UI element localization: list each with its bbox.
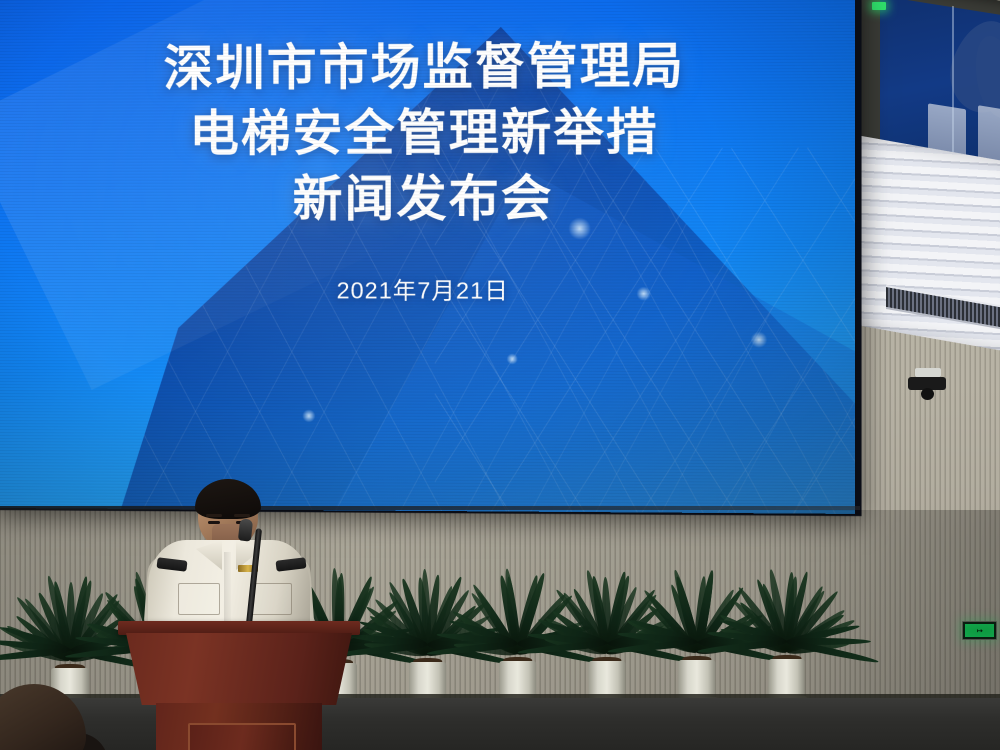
slide-title-line-3: 新闻发布会 xyxy=(293,167,554,233)
press-conference-photo: ↦ 深圳市市场监督管理局 电梯安全管理新举措 新闻发布会 2021年7月21日 xyxy=(0,0,1000,750)
potted-plant xyxy=(560,523,654,704)
green-indicator-light-icon xyxy=(872,2,886,10)
screen-bottom-ledge xyxy=(0,506,860,510)
speaker-brow-right xyxy=(234,514,250,517)
podium-front-panel xyxy=(188,723,296,750)
camera-mount xyxy=(915,368,941,377)
microphone-icon xyxy=(238,518,253,541)
podium-body xyxy=(126,633,352,705)
speaker-brow-left xyxy=(206,514,222,517)
room-floor xyxy=(0,698,1000,750)
potted-plant xyxy=(470,522,565,705)
slide-title-line-1: 深圳市市场监督管理局 xyxy=(164,34,686,103)
slide-text-block: 深圳市市场监督管理局 电梯安全管理新举措 新闻发布会 2021年7月21日 xyxy=(0,0,855,514)
camera-lens-icon xyxy=(921,388,934,400)
potted-plant xyxy=(740,523,833,702)
led-screen: 深圳市市场监督管理局 电梯安全管理新举措 新闻发布会 2021年7月21日 xyxy=(0,0,855,514)
podium-top-surface xyxy=(118,621,360,635)
potted-plant xyxy=(650,522,744,703)
speaker-shirt-placket xyxy=(224,552,231,628)
speaker-shirt-pocket-right xyxy=(250,583,292,615)
speaker-shirt-pocket-left xyxy=(178,583,220,615)
slide-title-line-2: 电梯安全管理新举措 xyxy=(189,100,658,167)
slide-date: 2021年7月21日 xyxy=(337,272,509,307)
exit-sign-glyph: ↦ xyxy=(965,624,994,637)
exit-sign: ↦ xyxy=(962,621,997,640)
